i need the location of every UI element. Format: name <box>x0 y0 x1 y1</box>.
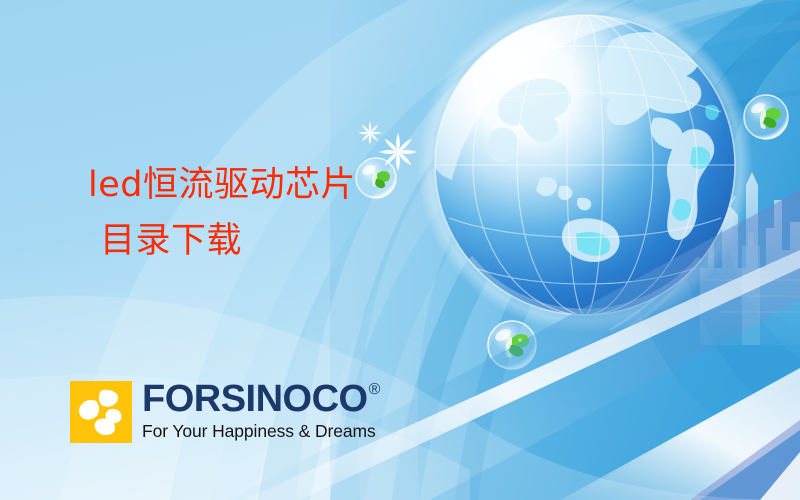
sparkle-small <box>358 121 382 145</box>
brand-lockup: FORSINOCO ® For Your Happiness & Dreams <box>142 381 380 442</box>
banner-canvas: led恒流驱动芯片 目录下载 FORSINOCO ® For Your Happ… <box>0 0 800 500</box>
brand-name: FORSINOCO <box>142 381 368 418</box>
brand-logo[interactable]: FORSINOCO ® For Your Happiness & Dreams <box>70 381 380 443</box>
bubble-green-sprout-3 <box>744 95 788 139</box>
headline-text: led恒流驱动芯片 目录下载 <box>88 165 356 263</box>
bubble-green-sprout-1 <box>356 158 396 198</box>
brand-tagline: For Your Happiness & Dreams <box>142 421 380 442</box>
headline-line-1: led恒流驱动芯片 <box>88 165 356 206</box>
registered-trademark-icon: ® <box>369 382 381 398</box>
forsinoco-pinwheel-mark <box>70 381 132 443</box>
headline-line-2: 目录下载 <box>88 221 356 262</box>
